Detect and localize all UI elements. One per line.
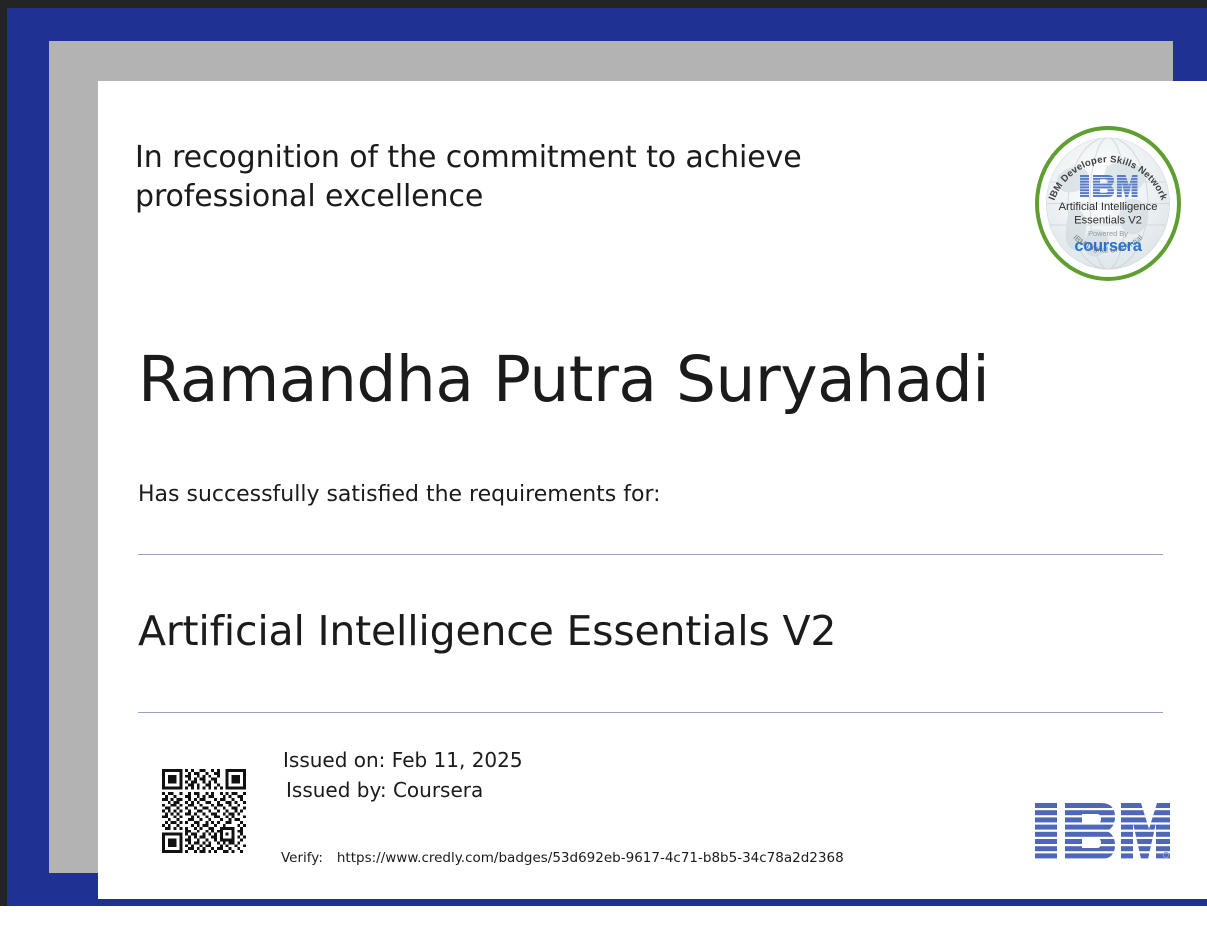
recipient-name: Ramandha Putra Suryahadi	[138, 345, 989, 415]
badge-title-line1: Artificial Intelligence	[1059, 201, 1158, 213]
verify-label: Verify:	[281, 850, 323, 866]
certificate-silver-frame: In recognition of the commitment to achi…	[49, 41, 1173, 873]
divider-rule-top	[138, 554, 1163, 555]
ibm-digital-credential-badge: IBM Developer Skills Network IBM Digital…	[1034, 126, 1182, 281]
recognition-text: In recognition of the commitment to achi…	[135, 138, 895, 216]
certificate-card: In recognition of the commitment to achi…	[98, 81, 1207, 899]
ibm-logo	[1035, 803, 1170, 859]
divider-rule-bottom	[138, 712, 1163, 713]
course-title: Artificial Intelligence Essentials V2	[138, 606, 836, 656]
issuance-details: Issued on: Feb 11, 2025 Issued by: Cours…	[283, 745, 523, 805]
verification-qr-code[interactable]	[162, 769, 246, 853]
left-edge-strip	[0, 0, 7, 906]
badge-title-line2: Essentials V2	[1074, 215, 1142, 227]
requirements-text: Has successfully satisfied the requireme…	[138, 482, 661, 507]
badge-platform-coursera: coursera	[1074, 237, 1142, 255]
verify-line: Verify:https://www.credly.com/badges/53d…	[281, 850, 844, 866]
issued-on-text: Issued on: Feb 11, 2025	[283, 745, 523, 775]
issued-by-text: Issued by: Coursera	[283, 775, 523, 805]
verify-url-link[interactable]: https://www.credly.com/badges/53d692eb-9…	[323, 850, 844, 866]
certificate-page: In recognition of the commitment to achi…	[0, 0, 1207, 937]
certificate-blue-border: In recognition of the commitment to achi…	[7, 8, 1207, 906]
top-edge-strip	[0, 0, 1207, 8]
